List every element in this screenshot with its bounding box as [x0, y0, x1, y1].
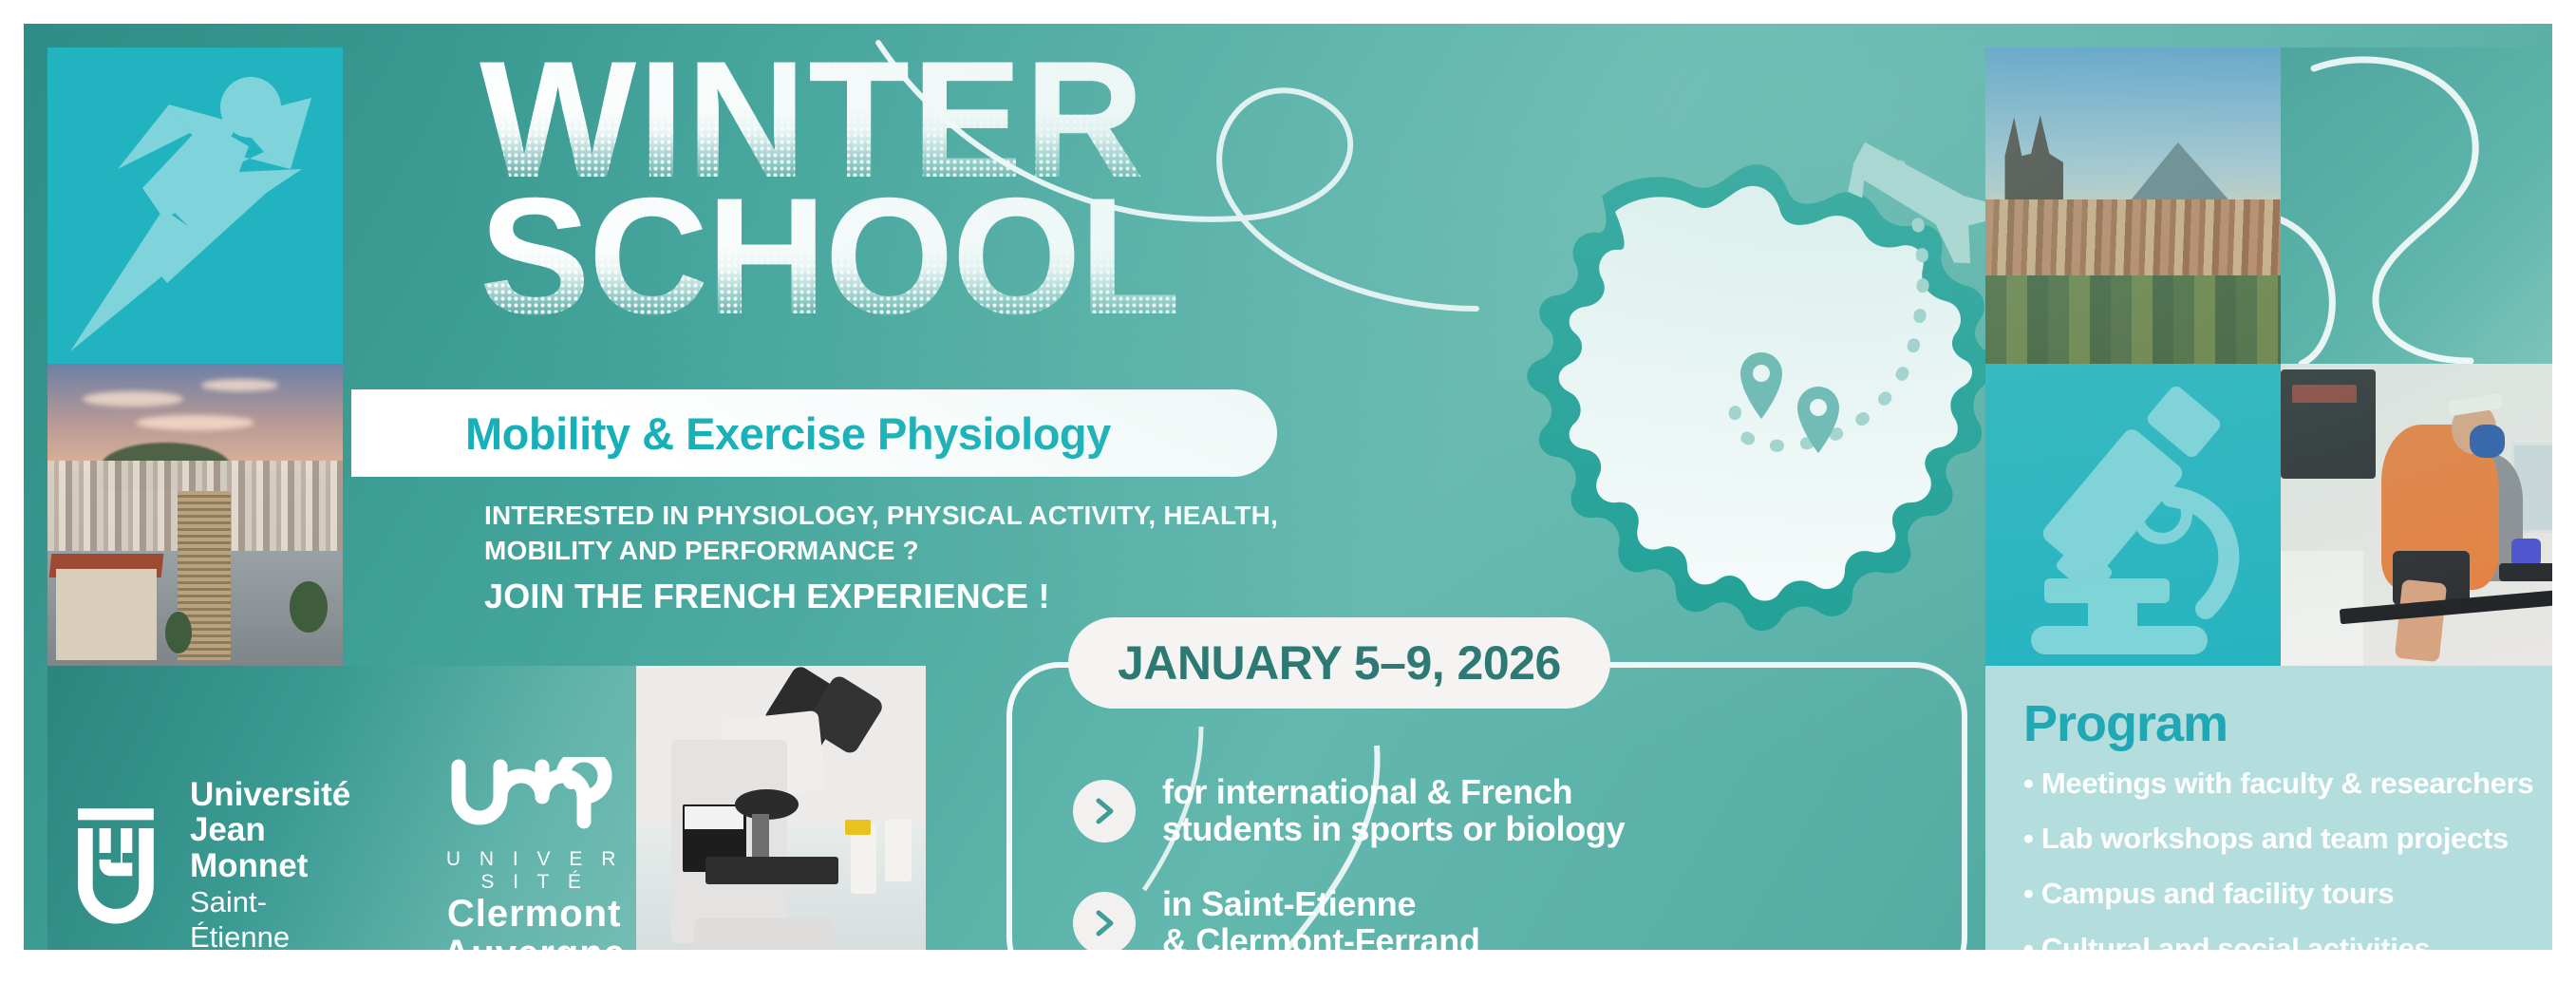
decorative-swirl-tile — [2281, 47, 2552, 364]
bullet-line1: for international & French — [1162, 772, 1572, 811]
audience-bullets: for international & French students in s… — [1073, 774, 1927, 950]
blurb-line1: INTERESTED IN PHYSIOLOGY, PHYSICAL ACTIV… — [484, 499, 1358, 534]
saint-etienne-cityscape-photo — [47, 364, 343, 666]
bullet-line2: & Clermont-Ferrand — [1162, 921, 1480, 950]
list-item: for international & French students in s… — [1073, 774, 1927, 848]
logo-universite-jean-monnet: Université Jean Monnet Saint-Étienne — [66, 777, 366, 951]
list-item: in Saint-Etienne & Clermont-Ferrand — [1073, 886, 1927, 950]
ujm-line1: Université — [190, 777, 366, 813]
chevron-right-icon — [1073, 892, 1136, 950]
program-panel: Program • Meetings with faculty & resear… — [1985, 666, 2552, 950]
list-item: • Meetings with faculty & researchers — [2023, 768, 2552, 798]
program-title: Program — [2023, 694, 2228, 753]
microscope-icon — [1985, 364, 2281, 666]
program-list: • Meetings with faculty & researchers • … — [2023, 768, 2552, 950]
headline-school: SCHOOL — [479, 189, 1486, 326]
partner-logos-panel: Université Jean Monnet Saint-Étienne U N… — [47, 666, 636, 950]
microscope-icon-tile — [1985, 364, 2281, 666]
page-title: WINTER SCHOOL — [479, 52, 1486, 325]
list-item: • Cultural and social activities — [2023, 934, 2552, 950]
clermont-ferrand-cathedral-photo — [1985, 47, 2281, 364]
bullet-text: in Saint-Etienne & Clermont-Ferrand — [1162, 886, 1480, 950]
poster-root: Université Jean Monnet Saint-Étienne U N… — [0, 0, 2576, 984]
subtitle-text: Mobility & Exercise Physiology — [465, 407, 1111, 460]
logo-universite-clermont-auvergne: U N I V E R S I T É Clermont Auvergne — [432, 757, 636, 950]
ujm-shield-icon — [66, 794, 165, 937]
bullet-text: for international & French students in s… — [1162, 774, 1625, 848]
bullet-line2: students in sports or biology — [1162, 809, 1625, 848]
list-item: • Campus and facility tours — [2023, 879, 2552, 908]
laboratory-microscope-photo — [636, 666, 926, 950]
intro-blurb: INTERESTED IN PHYSIOLOGY, PHYSICAL ACTIV… — [484, 499, 1358, 616]
uca-line3: Auvergne — [432, 934, 636, 950]
bullet-line1: in Saint-Etienne — [1162, 884, 1416, 923]
uca-line1: U N I V E R S I T É — [432, 848, 636, 894]
runner-icon-tile — [47, 47, 343, 364]
poster-canvas: Université Jean Monnet Saint-Étienne U N… — [24, 24, 2552, 950]
uca-wordmark-icon — [449, 757, 620, 838]
subtitle-pill: Mobility & Exercise Physiology — [351, 389, 1277, 477]
chevron-right-icon — [1073, 780, 1136, 842]
running-athlete-icon — [47, 47, 343, 364]
date-text: JANUARY 5–9, 2026 — [1118, 635, 1561, 691]
cyclist-exercise-test-photo — [2281, 364, 2552, 666]
blurb-line2: MOBILITY AND PERFORMANCE ? — [484, 534, 1358, 569]
ujm-line2: Jean Monnet — [190, 812, 366, 884]
ujm-line3: Saint-Étienne — [190, 884, 366, 950]
date-badge: JANUARY 5–9, 2026 — [1068, 617, 1610, 709]
france-map — [1438, 62, 2027, 651]
call-to-action: JOIN THE FRENCH EXPERIENCE ! — [484, 577, 1358, 616]
uca-line2: Clermont — [432, 894, 636, 934]
list-item: • Lab workshops and team projects — [2023, 823, 2552, 853]
